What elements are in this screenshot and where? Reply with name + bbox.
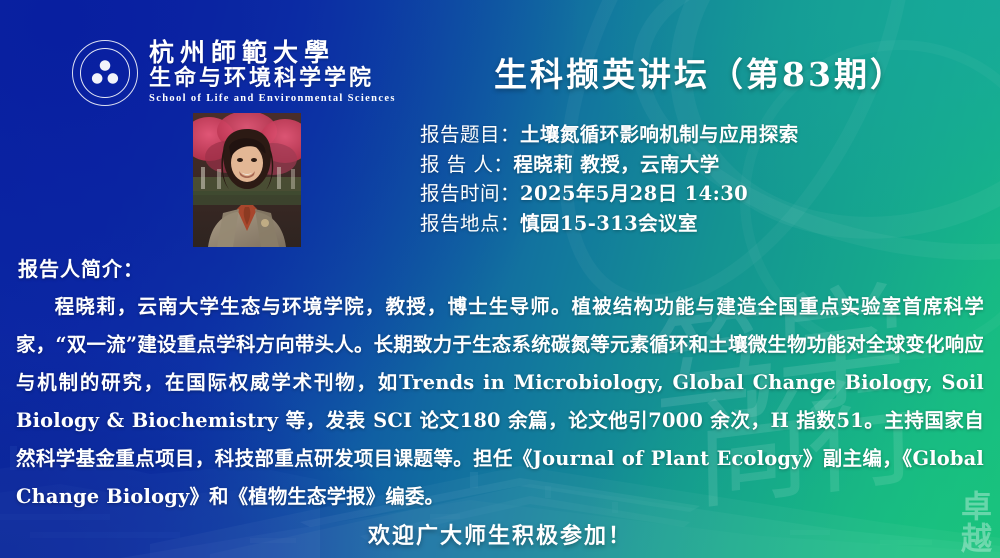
lecture-info-block: 报告题目： 土壤氮循环影响机制与应用探索 报 告 人： 程晓莉 教授，云南大学 …: [420, 120, 799, 238]
university-seal-icon: [72, 40, 138, 106]
footer-call-to-action: 欢迎广大师生积极参加！: [0, 518, 1000, 550]
info-value-speaker: 程晓莉 教授，云南大学: [513, 150, 719, 180]
logo-university-name: 杭州師範大學: [149, 40, 396, 66]
info-label-speaker: 报 告 人：: [420, 150, 513, 180]
info-row-topic: 报告题目： 土壤氮循环影响机制与应用探索: [420, 120, 799, 150]
info-row-venue: 报告地点： 慎园15-313会议室: [420, 209, 799, 239]
bio-heading: 报告人简介：: [18, 253, 144, 282]
info-value-time: 2025年5月28日 14:30: [520, 179, 748, 209]
logo-college-name: 生命与环境科学学院: [149, 66, 396, 91]
info-label-time: 报告时间：: [420, 179, 520, 209]
logo-english-name: School of Life and Environmental Science…: [149, 93, 396, 104]
info-value-venue: 慎园15-313会议室: [520, 209, 698, 239]
bio-paragraph: 程晓莉，云南大学生态与环境学院，教授，博士生导师。植被结构功能与建造全国重点实验…: [16, 288, 984, 516]
lecture-poster: 笃学 尚行 卓越: [0, 0, 1000, 558]
info-label-topic: 报告题目：: [420, 120, 520, 150]
university-logo: 杭州師範大學 生命与环境科学学院 School of Life and Envi…: [72, 39, 396, 106]
bio-body: 程晓莉，云南大学生态与环境学院，教授，博士生导师。植被结构功能与建造全国重点实验…: [16, 288, 984, 516]
info-value-topic: 土壤氮循环影响机制与应用探索: [520, 120, 799, 150]
info-label-venue: 报告地点：: [420, 209, 520, 239]
info-row-time: 报告时间： 2025年5月28日 14:30: [420, 179, 799, 209]
speaker-photo: [193, 113, 301, 247]
page-title: 生科撷英讲坛（第83期）: [460, 48, 940, 96]
info-row-speaker: 报 告 人： 程晓莉 教授，云南大学: [420, 150, 799, 180]
speaker-portrait-image: [193, 113, 301, 247]
